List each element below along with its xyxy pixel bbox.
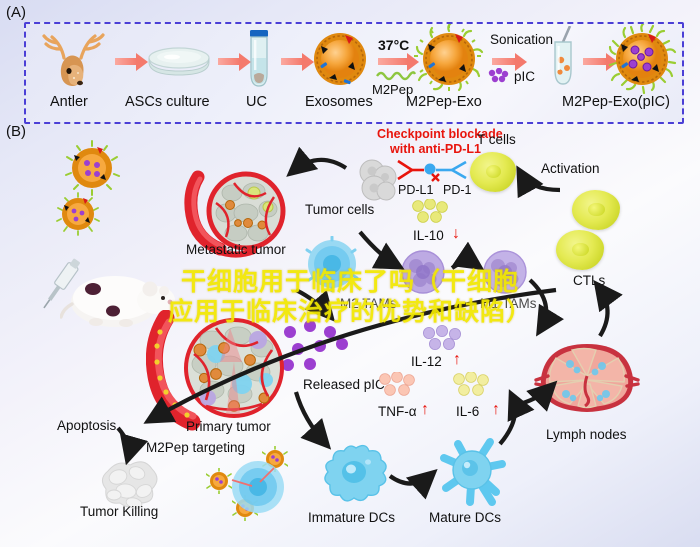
- il-6-label: IL-6: [456, 405, 479, 419]
- injected-exosome-icon-1: [64, 140, 120, 196]
- loaded-exosome-icon: [607, 24, 677, 94]
- sonicator-tube-icon: [548, 26, 578, 90]
- primary-tumor-icon: [146, 310, 306, 435]
- panel-a-step-label-antler: Antler: [50, 95, 88, 110]
- mature-dc-icon: [432, 432, 512, 510]
- panel-a-step-label-uc: UC: [246, 95, 267, 110]
- immature-dc-icon: [320, 440, 392, 508]
- pic-annotation: pIC: [514, 70, 535, 84]
- arrow-uc-to-exosomes: [281, 58, 303, 65]
- activation-label: Activation: [541, 162, 600, 176]
- watermark-line-2: 应用于临床治疗的优势和缺陷）: [0, 292, 700, 328]
- il-12-particles-icon: [421, 325, 465, 353]
- tnf-alpha-particles-icon: [378, 372, 420, 398]
- target-macrophage-icon: [228, 458, 288, 516]
- tumor-cells-label: Tumor cells: [305, 203, 374, 217]
- tnf-alpha-trend-arrow: ↑: [421, 402, 429, 418]
- arrow-m2pepexo-to-sonication: [492, 58, 516, 65]
- panel-a-step-label-exosomes: Exosomes: [305, 95, 373, 110]
- il-10-trend-arrow: ↓: [452, 226, 460, 242]
- panel-b-tag: (B): [6, 124, 26, 139]
- t-cells-label: T cells: [477, 133, 516, 147]
- t-cell-icon-1: [470, 152, 516, 192]
- pd-l1-label: PD-L1: [398, 184, 433, 197]
- arrow-sonication-to-product: [583, 58, 607, 65]
- centrifuge-tube-icon: [246, 28, 272, 90]
- lymph-nodes-icon: [532, 340, 642, 422]
- immature-dcs-label: Immature DCs: [308, 511, 395, 525]
- petri-dish-icon: [146, 44, 212, 78]
- metastatic-tumor-label: Metastatic tumor: [186, 243, 286, 257]
- arrow-antler-to-culture: [115, 58, 137, 65]
- il-12-trend-arrow: ↑: [453, 352, 461, 368]
- panel-a-step-label-ascs: ASCs culture: [125, 95, 210, 110]
- il-12-label: IL-12: [411, 355, 442, 369]
- sonication-annotation: Sonication: [490, 33, 553, 47]
- il-6-trend-arrow: ↑: [492, 402, 500, 418]
- pd-1-label: PD-1: [443, 184, 471, 197]
- il-6-particles-icon: [452, 372, 494, 398]
- figure-root: (A) Antler ASCs culture: [0, 0, 700, 547]
- m2pep-squiggle-icon: [376, 68, 416, 80]
- il-10-particles-icon: [411, 199, 451, 225]
- exosome-icon: [311, 30, 369, 88]
- injected-exosome-icon-2: [56, 192, 100, 236]
- lymph-nodes-label: Lymph nodes: [546, 428, 627, 442]
- peptide-exosome-icon: [414, 24, 484, 94]
- primary-tumor-label: Primary tumor: [186, 420, 271, 434]
- il-10-label: IL-10: [413, 229, 444, 243]
- panel-a-step-label-m2pepexopic: M2Pep-Exo(pIC): [562, 95, 670, 110]
- panel-a-step-label-m2pepexo: M2Pep-Exo: [406, 95, 482, 110]
- pic-cluster-icon: [488, 68, 510, 84]
- checkpoint-blockade-line2: with anti-PD-L1: [390, 143, 481, 156]
- tumor-killing-label: Tumor Killing: [80, 505, 158, 519]
- released-pic-label: Released pIC: [303, 378, 385, 392]
- deer-antler-icon: [40, 28, 112, 90]
- panel-a-tag: (A): [6, 5, 26, 20]
- arrow-culture-to-uc: [218, 58, 240, 65]
- tnf-alpha-label: TNF-α: [378, 405, 417, 419]
- arrow-exosomes-to-m2pepexo: [378, 58, 408, 65]
- mature-dcs-label: Mature DCs: [429, 511, 501, 525]
- ctl-cell-icon-1: [572, 190, 620, 230]
- temperature-annotation: 37°C: [378, 38, 409, 52]
- apoptosis-label: Apoptosis: [57, 419, 116, 433]
